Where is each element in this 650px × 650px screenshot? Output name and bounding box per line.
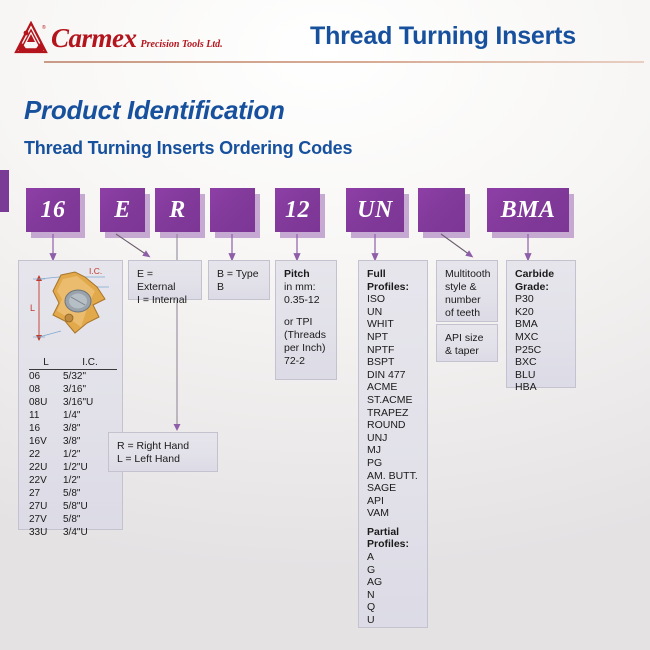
full-profiles-title-2: Profiles: (367, 281, 419, 294)
api-size-box: API size & taper (436, 324, 498, 362)
size-table-row: 065/32" (29, 370, 117, 383)
size-ic-value: 5/8" (63, 487, 117, 500)
size-l-value: 22U (29, 461, 63, 474)
size-table-row: 111/4" (29, 409, 117, 422)
size-table-row: 22U1/2"U (29, 461, 117, 474)
size-l-value: 08U (29, 396, 63, 409)
pitch-title: Pitch (284, 268, 328, 281)
left-hand-line: L = Left Hand (117, 453, 209, 466)
pitch-tpi-desc2: per Inch) (284, 342, 328, 355)
code-box-label: E (114, 197, 131, 224)
right-hand-line: R = Right Hand (117, 440, 209, 453)
code-box-face (210, 188, 255, 232)
full-profile-item: WHIT (367, 318, 419, 331)
full-profile-item: PG (367, 457, 419, 470)
type-line: B = Type B (217, 268, 261, 294)
multitooth-line-1: Multitooth (445, 268, 489, 281)
svg-text:®: ® (42, 24, 46, 31)
size-l-value: 27V (29, 513, 63, 526)
code-box-label: 12 (285, 197, 310, 224)
grade-item: HBA (515, 381, 567, 394)
size-table-row: 22V1/2" (29, 474, 117, 487)
size-table-header-l: L (29, 357, 63, 370)
partial-profiles-title-2: Profiles: (367, 538, 419, 551)
internal-line: I = Internal (137, 294, 193, 307)
size-table-row: 08U3/16"U (29, 396, 117, 409)
full-profile-item: BSPT (367, 356, 419, 369)
grade-list: P30K20BMAMXCP25CBXCBLUHBA (515, 293, 567, 394)
full-profile-item: ISO (367, 293, 419, 306)
partial-profile-item: U (367, 614, 419, 627)
type-box: B = Type B (208, 260, 270, 300)
code-box-5[interactable]: 12 (275, 188, 320, 232)
full-profile-item: MJ (367, 444, 419, 457)
size-table-row: 16V3/8" (29, 435, 117, 448)
code-box-2[interactable]: E (100, 188, 145, 232)
code-box-face: 16 (26, 188, 80, 232)
code-box-4[interactable] (210, 188, 255, 232)
grade-item: P30 (515, 293, 567, 306)
size-table: L I.C. 065/32"083/16"08U3/16"U111/4"163/… (29, 357, 117, 539)
grade-title-2: Grade: (515, 281, 567, 294)
size-l-value: 27U (29, 500, 63, 513)
grade-item: BMA (515, 318, 567, 331)
size-ic-value: 5/8"U (63, 500, 117, 513)
size-ic-value: 5/32" (63, 370, 117, 383)
full-profile-item: UN (367, 306, 419, 319)
insert-dimension-box: L I.C. L I.C. 065/32"083/16"08U3/16"U111… (18, 260, 123, 530)
size-table-header: L I.C. (29, 357, 117, 370)
header-divider (44, 61, 644, 63)
grade-item: K20 (515, 306, 567, 319)
multitooth-line-3: number (445, 294, 489, 307)
code-box-label: BMA (501, 197, 556, 224)
full-profiles-title-1: Full (367, 268, 419, 281)
full-profile-item: UNJ (367, 432, 419, 445)
page-header: ® Carmex Precision Tools Ltd. Thread Tur… (0, 0, 650, 70)
size-l-value: 06 (29, 370, 63, 383)
partial-profile-item: G (367, 564, 419, 577)
size-l-value: 08 (29, 383, 63, 396)
section-title: Product Identification (24, 95, 285, 126)
code-box-label: UN (357, 197, 393, 224)
full-profile-item: NPTF (367, 344, 419, 357)
full-profile-item: NPT (367, 331, 419, 344)
partial-profile-item: AG (367, 576, 419, 589)
size-ic-value: 3/4"U (63, 526, 117, 539)
api-line-1: API size (445, 332, 489, 345)
hand-direction-box: R = Right Hand L = Left Hand (108, 432, 218, 472)
carmex-logo: ® Carmex Precision Tools Ltd. (14, 21, 223, 55)
size-table-row: 221/2" (29, 448, 117, 461)
size-ic-value: 3/16"U (63, 396, 117, 409)
partial-profile-item: A (367, 551, 419, 564)
size-l-value: 33U (29, 526, 63, 539)
full-profile-item: ST.ACME (367, 394, 419, 407)
code-box-face: UN (346, 188, 404, 232)
pitch-box: Pitch in mm: 0.35-12 or TPI (Threads per… (275, 260, 337, 380)
size-ic-value: 3/16" (63, 383, 117, 396)
code-box-face: 12 (275, 188, 320, 232)
code-box-8[interactable]: BMA (487, 188, 569, 232)
external-line: E = External (137, 268, 193, 294)
full-profile-item: API (367, 495, 419, 508)
size-table-row: 27V5/8" (29, 513, 117, 526)
profiles-box: Full Profiles: ISOUNWHITNPTNPTFBSPTDIN 4… (358, 260, 428, 628)
grade-item: BXC (515, 356, 567, 369)
grade-item: MXC (515, 331, 567, 344)
partial-profile-item: N (367, 589, 419, 602)
api-line-2: & taper (445, 345, 489, 358)
size-ic-value: 1/4" (63, 409, 117, 422)
brand-name: Carmex (51, 25, 137, 52)
size-table-row: 33U3/4"U (29, 526, 117, 539)
size-l-value: 22V (29, 474, 63, 487)
partial-profiles-title-1: Partial (367, 526, 419, 539)
carbide-grade-box: Carbide Grade: P30K20BMAMXCP25CBXCBLUHBA (506, 260, 576, 388)
code-box-face: BMA (487, 188, 569, 232)
code-box-3[interactable]: R (155, 188, 200, 232)
pitch-tpi-desc1: (Threads (284, 329, 328, 342)
size-l-value: 11 (29, 409, 63, 422)
code-box-6[interactable]: UN (346, 188, 404, 232)
code-box-face: E (100, 188, 145, 232)
document-title: Thread Turning Inserts (310, 22, 576, 51)
full-profiles-list: ISOUNWHITNPTNPTFBSPTDIN 477ACMEST.ACMETR… (367, 293, 419, 520)
size-l-value: 27 (29, 487, 63, 500)
page-root: ® Carmex Precision Tools Ltd. Thread Tur… (0, 0, 650, 650)
full-profile-item: SAGE (367, 482, 419, 495)
full-profile-item: DIN 477 (367, 369, 419, 382)
size-l-value: 22 (29, 448, 63, 461)
size-l-value: 16 (29, 422, 63, 435)
size-table-row: 163/8" (29, 422, 117, 435)
pitch-mm-label: in mm: (284, 281, 328, 294)
multitooth-line-4: of teeth (445, 307, 489, 320)
multitooth-line-2: style & (445, 281, 489, 294)
size-table-row: 275/8" (29, 487, 117, 500)
size-table-row: 083/16" (29, 383, 117, 396)
pitch-mm-range: 0.35-12 (284, 294, 328, 307)
code-box-face: R (155, 188, 200, 232)
pitch-tpi-range: 72-2 (284, 355, 328, 368)
size-ic-value: 5/8" (63, 513, 117, 526)
pitch-tpi-label: or TPI (284, 316, 328, 329)
external-internal-box: E = External I = Internal (128, 260, 202, 300)
grade-item: P25C (515, 344, 567, 357)
code-box-7[interactable] (418, 188, 465, 232)
svg-text:L: L (30, 303, 35, 313)
subsection-title: Thread Turning Inserts Ordering Codes (24, 138, 352, 159)
svg-text:I.C.: I.C. (89, 266, 102, 276)
brand-tagline: Precision Tools Ltd. (141, 40, 223, 50)
multitooth-box: Multitooth style & number of teeth (436, 260, 498, 322)
full-profile-item: AM. BUTT. (367, 470, 419, 483)
full-profile-item: TRAPEZ (367, 407, 419, 420)
full-profile-item: ROUND (367, 419, 419, 432)
carmex-logo-icon: ® (14, 21, 48, 55)
full-profile-item: ACME (367, 381, 419, 394)
left-accent-tab (0, 170, 9, 212)
partial-profiles-list: AGAGNQU (367, 551, 419, 627)
full-profile-item: VAM (367, 507, 419, 520)
code-box-label: 16 (41, 197, 66, 224)
size-table-header-ic: I.C. (63, 357, 117, 370)
size-table-row: 27U5/8"U (29, 500, 117, 513)
code-box-face (418, 188, 465, 232)
size-l-value: 16V (29, 435, 63, 448)
code-box-label: R (169, 197, 186, 224)
grade-title-1: Carbide (515, 268, 567, 281)
grade-item: BLU (515, 369, 567, 382)
partial-profile-item: Q (367, 601, 419, 614)
code-box-1[interactable]: 16 (26, 188, 80, 232)
size-ic-value: 1/2" (63, 474, 117, 487)
insert-drawing: L I.C. (19, 261, 122, 356)
